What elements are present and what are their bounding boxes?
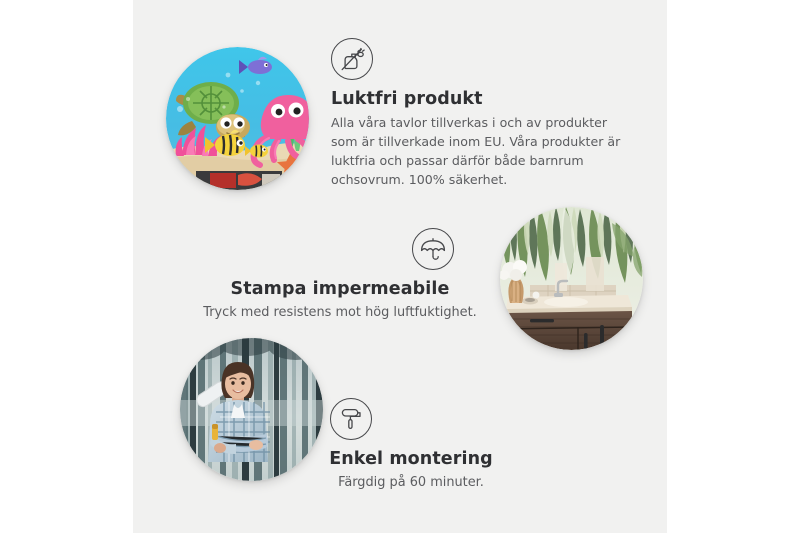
- feature-body: Alla våra tavlor tillverkas i och av pro…: [331, 113, 631, 190]
- feature-body: Färgdig på 60 minuter.: [296, 473, 526, 493]
- feature-waterproof: Stampa impermeabile Tryck med resistens …: [196, 228, 484, 323]
- umbrella-icon: [412, 228, 454, 270]
- paint-roller-icon: [330, 398, 372, 440]
- photo-underwater-scene: [166, 47, 309, 190]
- feature-title: Enkel montering: [296, 449, 526, 469]
- page-root: Luktfri produkt Alla våra tavlor tillver…: [0, 0, 800, 533]
- photo-bathroom-tropical-wallpaper: [500, 207, 643, 350]
- feature-odourless: Luktfri produkt Alla våra tavlor tillver…: [331, 38, 631, 190]
- feature-title: Stampa impermeabile: [196, 279, 484, 299]
- feature-easy-mount: Enkel montering Färgdig på 60 minuter.: [296, 398, 526, 493]
- feature-title: Luktfri produkt: [331, 89, 631, 109]
- no-fragrance-icon: [331, 38, 373, 80]
- feature-panel: Luktfri produkt Alla våra tavlor tillver…: [133, 0, 667, 533]
- feature-body: Tryck med resistens mot hög luftfuktighe…: [196, 303, 484, 323]
